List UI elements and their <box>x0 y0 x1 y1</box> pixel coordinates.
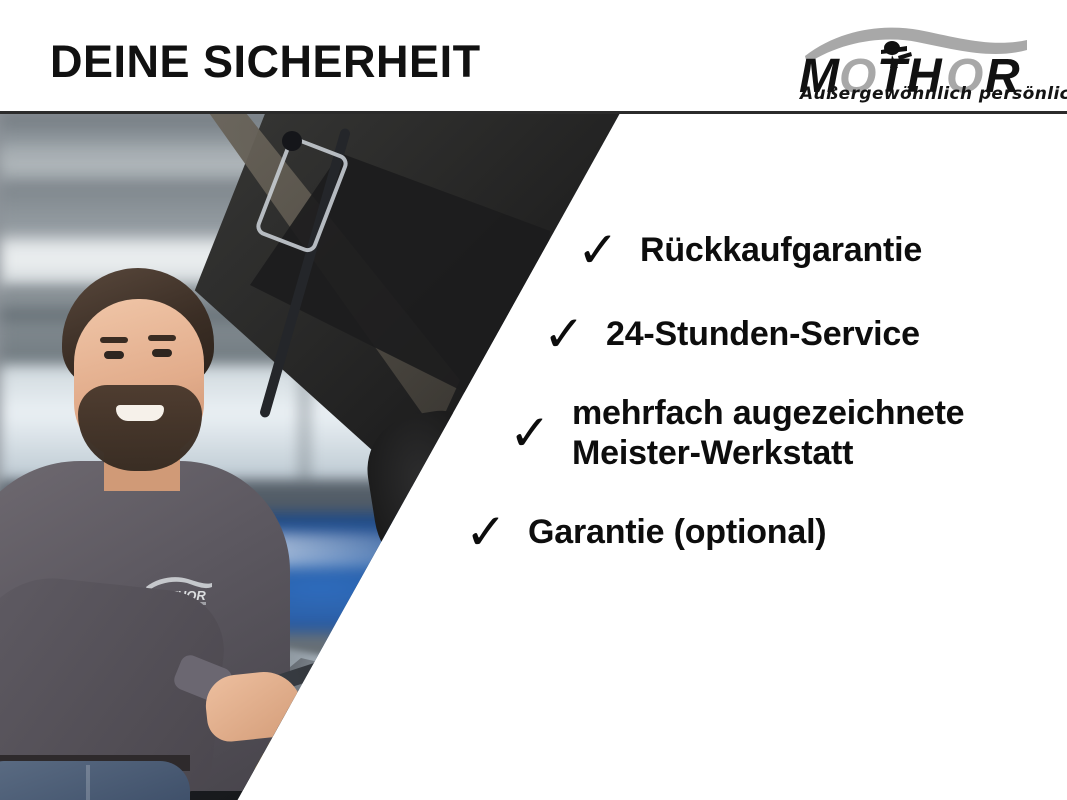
header-divider <box>0 111 1067 114</box>
check-icon: ✓ <box>464 507 508 557</box>
mechanic-jeans <box>0 761 190 800</box>
checklist-item-label: 24-Stunden-Service <box>606 314 920 354</box>
mechanic-eyebrow-right <box>148 335 176 341</box>
logo-tagline-wrap: Außergewöhnlich persönlich! <box>800 84 1035 104</box>
header-bar: DEINE SICHERHEIT M O T H O R <box>0 0 1067 113</box>
mechanic-eyebrow-left <box>100 337 128 343</box>
logo-tagline: Außergewöhnlich persönlich! <box>800 84 1035 104</box>
mechanic-smile <box>116 405 164 421</box>
checklist-item: ✓ 24-Stunden-Service <box>542 309 1050 359</box>
checklist-item: ✓ Rückkaufgarantie <box>576 225 1050 275</box>
check-icon: ✓ <box>542 309 586 359</box>
blue-fluid-cap <box>352 737 382 757</box>
checklist-item: ✓ Garantie (optional) <box>464 507 1050 557</box>
benefits-checklist: ✓ Rückkaufgarantie ✓ 24-Stunden-Service … <box>430 225 1050 557</box>
checklist-item: ✓ mehrfach augezeichnete Meister-Werksta… <box>508 393 1050 473</box>
mechanic-hand-right <box>291 686 377 757</box>
checklist-item-label: mehrfach augezeichnete Meister-Werkstatt <box>572 393 964 473</box>
checklist-item-label: Rückkaufgarantie <box>640 230 922 270</box>
slide-root: DEINE SICHERHEIT M O T H O R <box>0 0 1067 800</box>
mechanic-eye-right <box>152 349 172 357</box>
checklist-item-label: Garantie (optional) <box>528 512 826 552</box>
mechanic-eye-left <box>104 351 124 359</box>
check-icon: ✓ <box>508 408 552 458</box>
coolant-reservoir <box>288 750 392 800</box>
jeans-seam <box>86 765 90 800</box>
check-icon: ✓ <box>576 225 620 275</box>
hood-hinge-tip <box>282 131 302 151</box>
page-title: DEINE SICHERHEIT <box>50 36 481 88</box>
blue-fluid-cap <box>386 727 408 743</box>
